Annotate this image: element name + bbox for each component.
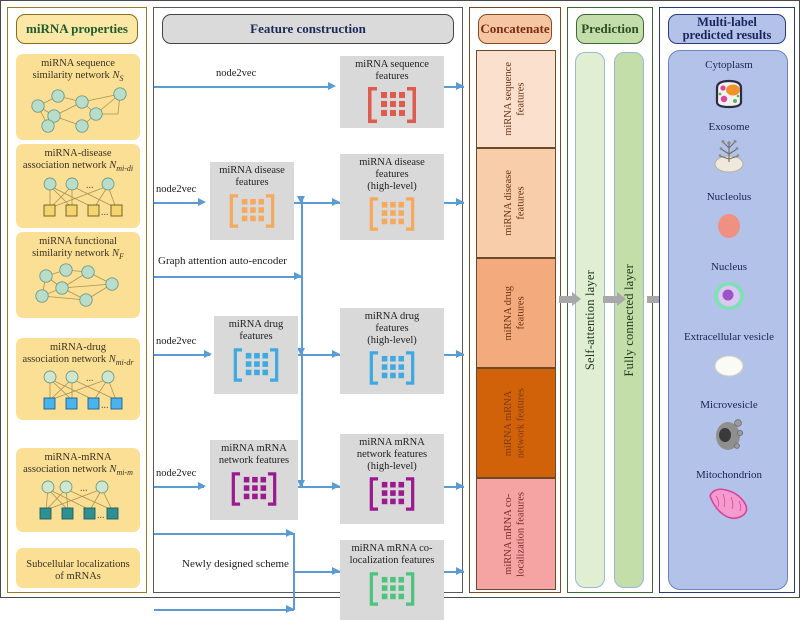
connector-line [154,609,294,611]
result-item-mitochondrion[interactable]: Mitochondrion [669,469,789,525]
svg-text:...: ... [80,483,88,494]
result-label: Extracellular vesicle [669,331,789,343]
connector-line [154,486,204,488]
panel-mirna-properties: miRNA properties miRNA sequence similari… [7,7,147,593]
feature-box-colocalization[interactable]: miRNA mRNA co- localization features [340,540,444,620]
matrix-icon [366,349,418,387]
svg-text:...: ... [101,207,109,218]
result-label: Mitochondrion [669,469,789,481]
feature-box-drug-high-level[interactable]: miRNA drug features (high-level) [340,308,444,394]
exosome-icon [669,135,789,177]
panel-title-concatenate: Concatenate [478,14,552,44]
concat-segment-label: miRNA mRNAnetwork features [503,388,528,458]
flow-label-node2vec-4: node2vec [156,468,196,479]
nucleus-icon [669,275,789,317]
property-card-disease-association[interactable]: miRNA-disease association network Nmi-di… [16,144,140,228]
matrix-icon [366,195,418,233]
concat-segment-mrna-network[interactable]: miRNA mRNAnetwork features [476,368,556,478]
arrow-head [198,198,206,206]
flow-label-node2vec-1: node2vec [216,68,256,79]
property-card-sequence-similarity[interactable]: miRNA sequence similarity network NS [16,54,140,140]
property-card-drug-association[interactable]: miRNA-drug association network Nmi-dr ..… [16,338,140,420]
concat-segment-disease[interactable]: miRNA diseasefeatures [476,148,556,258]
arrow-head [198,482,206,490]
concat-segment-label: miRNA sequencefeatures [503,62,528,136]
prediction-layer-self-attention[interactable]: Self-attention layer [575,52,605,588]
arrow-head [332,350,340,358]
panel-title-prediction: Prediction [576,14,644,44]
predicted-results-list: Cytoplasm Exosome [668,50,788,590]
result-label: Microvesicle [669,399,789,411]
panel-feature-construction: Feature construction node2vec miRNA sequ… [153,7,463,593]
result-label: Cytoplasm [669,59,789,71]
bipartite-graph-icon: ... ... [16,478,140,532]
matrix-icon [230,345,282,385]
feature-box-label: miRNA sequence features [353,56,431,84]
mitochondrion-icon [669,483,789,525]
matrix-icon [366,475,418,513]
arrow-head [456,198,464,206]
result-label: Nucleolus [669,191,789,203]
svg-text:...: ... [86,180,94,191]
connector-trunk-vertical [301,198,303,488]
svg-text:...: ... [97,510,105,521]
bipartite-graph-icon: ... ... [16,174,140,228]
bipartite-graph-icon: ... ... [16,368,140,420]
arrow-head [328,82,336,90]
cytoplasm-icon [669,73,789,115]
result-item-exosome[interactable]: Exosome [669,121,789,177]
panel-predicted-results: Multi-label predicted results Cytoplasm [659,7,795,593]
result-item-cytoplasm[interactable]: Cytoplasm [669,59,789,115]
concatenate-body: miRNA sequencefeatures miRNA diseasefeat… [470,50,560,588]
connector-line [154,86,330,88]
panel-title-feature-construction: Feature construction [162,14,454,44]
prediction-layer-label: Self-attention layer [583,270,598,370]
svg-text:...: ... [86,373,94,384]
flow-label-newly-designed-scheme: Newly designed scheme [182,558,289,570]
prediction-layer-fully-connected[interactable]: Fully connected layer [614,52,644,588]
concat-segment-sequence[interactable]: miRNA sequencefeatures [476,50,556,148]
stage-arrow-concat-to-prediction [559,292,581,307]
property-card-functional-similarity[interactable]: miRNA functional similarity network NF [16,232,140,318]
connector-line [154,202,200,204]
concat-segment-label: miRNA diseasefeatures [503,170,528,236]
arrow-head-down [297,196,305,204]
property-label: miRNA-mRNA association network Nmi-m [16,448,140,478]
result-label: Nucleus [669,261,789,273]
matrix-icon [228,469,280,509]
network-graph-icon [16,262,140,318]
feature-box-disease[interactable]: miRNA disease features [210,162,294,240]
result-item-nucleus[interactable]: Nucleus [669,261,789,317]
property-card-subcellular-localizations[interactable]: Subcellular localizations of mRNAs [16,548,140,588]
feature-box-disease-high-level[interactable]: miRNA disease features (high-level) [340,154,444,240]
nucleolus-icon [669,205,789,247]
result-label: Exosome [669,121,789,133]
connector-line [154,354,210,356]
property-label: miRNA-disease association network Nmi-di [16,144,140,174]
feature-box-sequence[interactable]: miRNA sequence features [340,56,444,128]
panel-concatenate: Concatenate miRNA sequencefeatures miRNA… [469,7,561,593]
prediction-body: Self-attention layer Fully connected lay… [568,50,652,588]
arrow-head [456,82,464,90]
network-graph-icon [16,84,140,140]
arrow-head [204,350,212,358]
property-label: miRNA sequence similarity network NS [16,54,140,84]
stage-arrow-selfattention-to-fc [603,292,627,307]
arrow-head [456,482,464,490]
result-item-nucleolus[interactable]: Nucleolus [669,191,789,247]
feature-box-label: miRNA mRNA co- localization features [348,540,437,568]
feature-box-label: miRNA drug features (high-level) [363,308,422,348]
concat-segment-label: miRNA drugfeatures [503,286,528,341]
feature-box-drug[interactable]: miRNA drug features [214,316,298,394]
feature-construction-body: node2vec miRNA sequence features [154,50,462,588]
flow-label-node2vec-2: node2vec [156,184,196,195]
arrow-head [456,567,464,575]
prediction-layer-label: Fully connected layer [622,264,637,377]
concat-segment-drug[interactable]: miRNA drugfeatures [476,258,556,368]
flow-label-node2vec-3: node2vec [156,336,196,347]
matrix-icon [366,569,418,609]
flow-label-graph-attention-auto-encoder: Graph attention auto-encoder [158,255,287,267]
property-label: miRNA functional similarity network NF [16,232,140,262]
matrix-icon [226,191,278,231]
connector-line [154,533,294,535]
feature-box-label: miRNA mRNA network features (high-level) [355,434,429,474]
arrow-head [456,350,464,358]
result-item-microvesicle[interactable]: Microvesicle [669,399,789,455]
concat-segment-label: miRNA mRNA co-localization features [503,492,528,577]
connector-line [154,276,302,278]
concat-segment-colocalization[interactable]: miRNA mRNA co-localization features [476,478,556,590]
microvesicle-icon [669,413,789,455]
feature-box-label: miRNA mRNA network features [217,440,291,468]
panel-title-mirna-properties: miRNA properties [16,14,138,44]
extracellular-vesicle-icon [669,345,789,387]
diagram-root: miRNA properties miRNA sequence similari… [0,0,800,598]
property-label: miRNA-drug association network Nmi-dr [16,338,140,368]
mirna-properties-body: miRNA sequence similarity network NS [8,50,146,588]
feature-box-label: miRNA drug features [227,316,286,344]
feature-box-mrna-network[interactable]: miRNA mRNA network features [210,440,298,520]
arrow-head [332,567,340,575]
arrow-head [332,198,340,206]
feature-box-mrna-network-high-level[interactable]: miRNA mRNA network features (high-level) [340,434,444,524]
matrix-icon [364,85,420,125]
property-label: Subcellular localizations of mRNAs [16,552,140,584]
result-item-extracellular-vesicle[interactable]: Extracellular vesicle [669,331,789,387]
arrow-head [332,482,340,490]
panel-title-predicted-results: Multi-label predicted results [668,14,786,44]
feature-box-label: miRNA disease features (high-level) [357,154,427,194]
feature-box-label: miRNA disease features [217,162,287,190]
svg-text:...: ... [101,400,109,411]
property-card-mrna-association[interactable]: miRNA-mRNA association network Nmi-m ... [16,448,140,532]
